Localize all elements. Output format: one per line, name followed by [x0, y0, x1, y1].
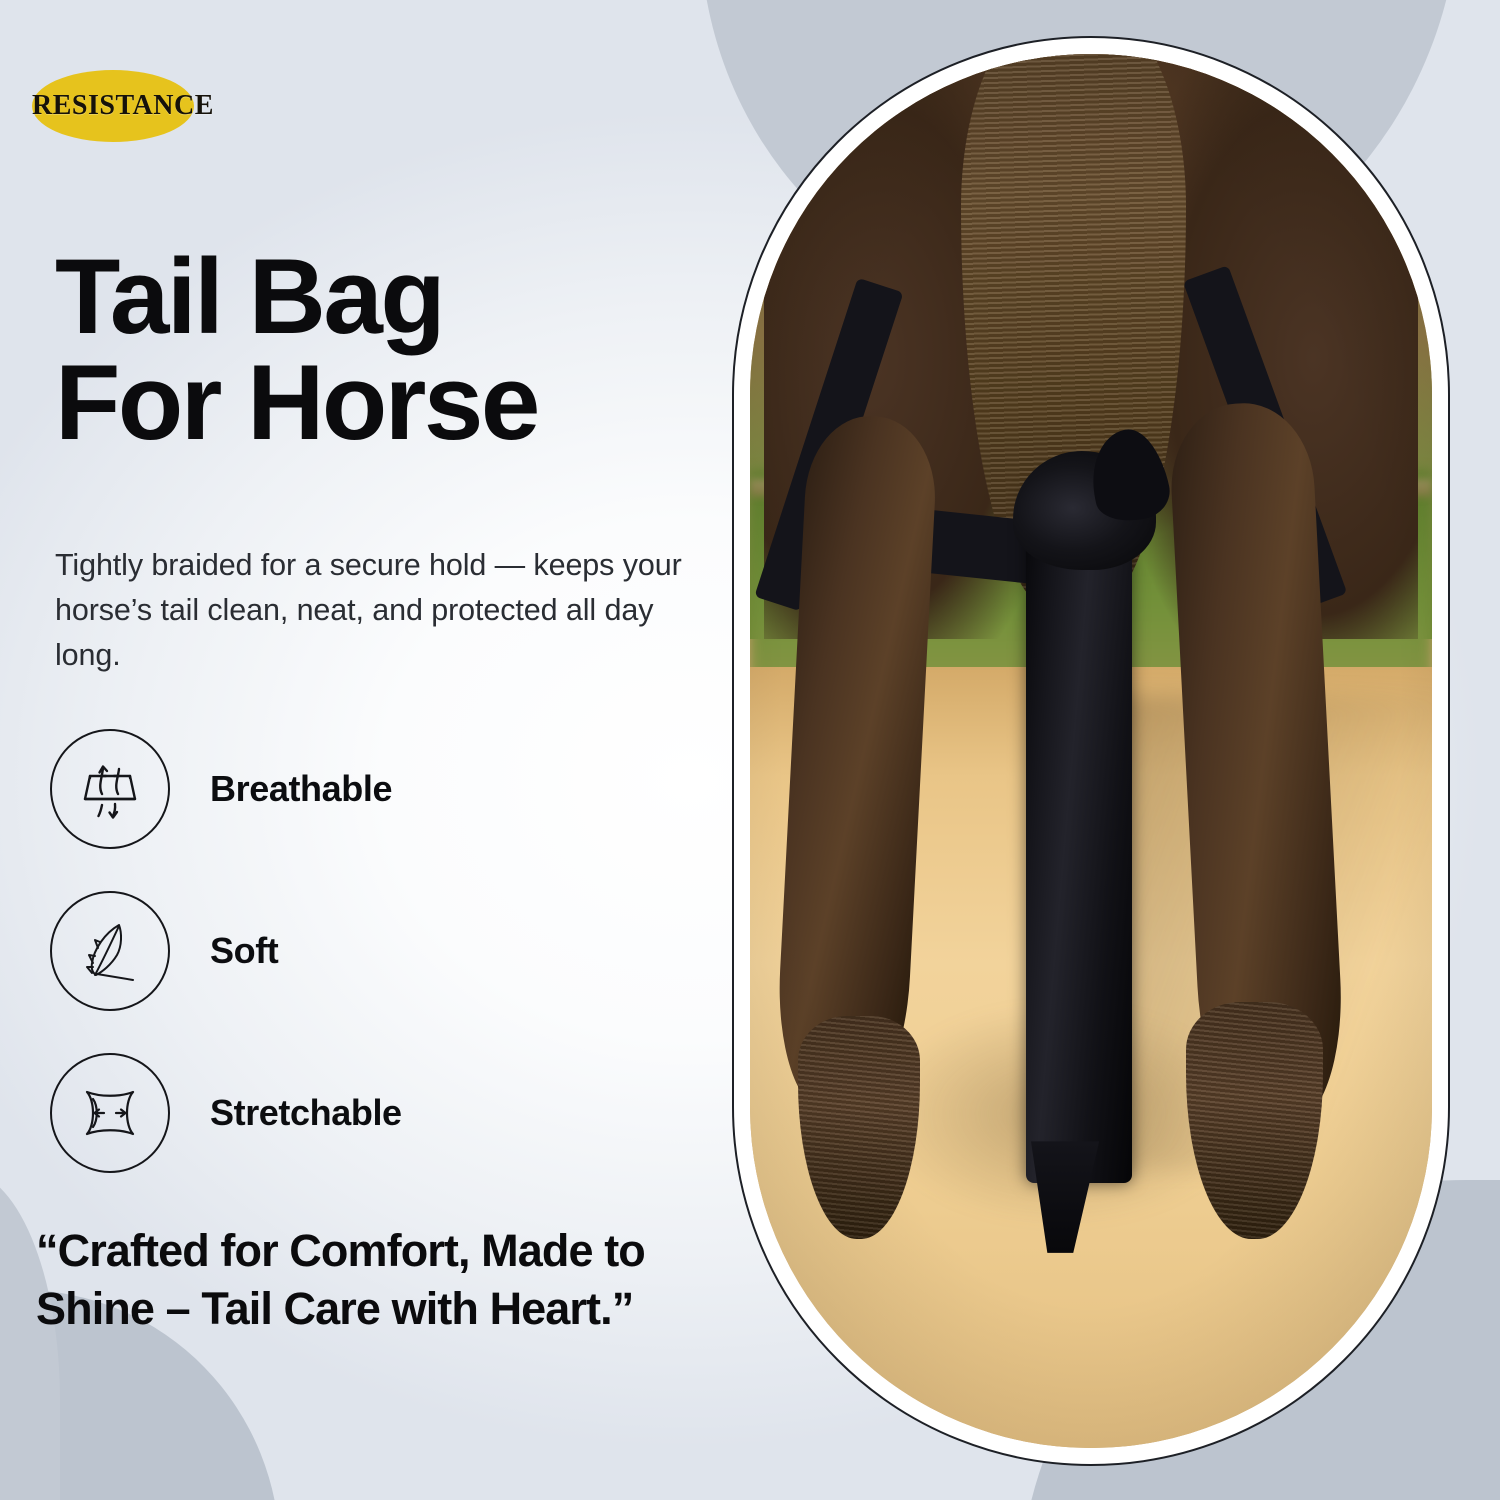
product-description: Tightly braided for a secure hold — keep… — [55, 543, 705, 678]
feature-label-breathable: Breathable — [210, 768, 392, 810]
product-infographic-canvas: RESISTANCE Tail Bag For Horse Tightly br… — [0, 0, 1500, 1500]
feature-label-soft: Soft — [210, 930, 278, 972]
product-photo-frame — [732, 36, 1450, 1466]
feature-item-soft: Soft — [50, 870, 670, 1032]
title-line-2: For Horse — [55, 350, 695, 456]
tagline-quote: “Crafted for Comfort, Made to Shine – Ta… — [36, 1222, 756, 1337]
photo-vignette — [750, 54, 1432, 1448]
quote-line-1: “Crafted for Comfort, Made to — [36, 1222, 756, 1280]
title-line-1: Tail Bag — [55, 244, 695, 350]
brand-logo: RESISTANCE — [32, 70, 194, 142]
page-title: Tail Bag For Horse — [55, 244, 695, 456]
breathable-icon — [50, 729, 170, 849]
feature-item-breathable: Breathable — [50, 708, 670, 870]
logo-wordmark: RESISTANCE — [32, 90, 194, 122]
feature-item-stretchable: Stretchable — [50, 1032, 670, 1194]
feather-icon — [50, 891, 170, 1011]
quote-line-2: Shine – Tail Care with Heart.” — [36, 1280, 756, 1338]
feature-label-stretchable: Stretchable — [210, 1092, 402, 1134]
feature-list: Breathable Soft — [50, 708, 670, 1194]
product-photo — [750, 54, 1432, 1448]
stretchable-icon — [50, 1053, 170, 1173]
